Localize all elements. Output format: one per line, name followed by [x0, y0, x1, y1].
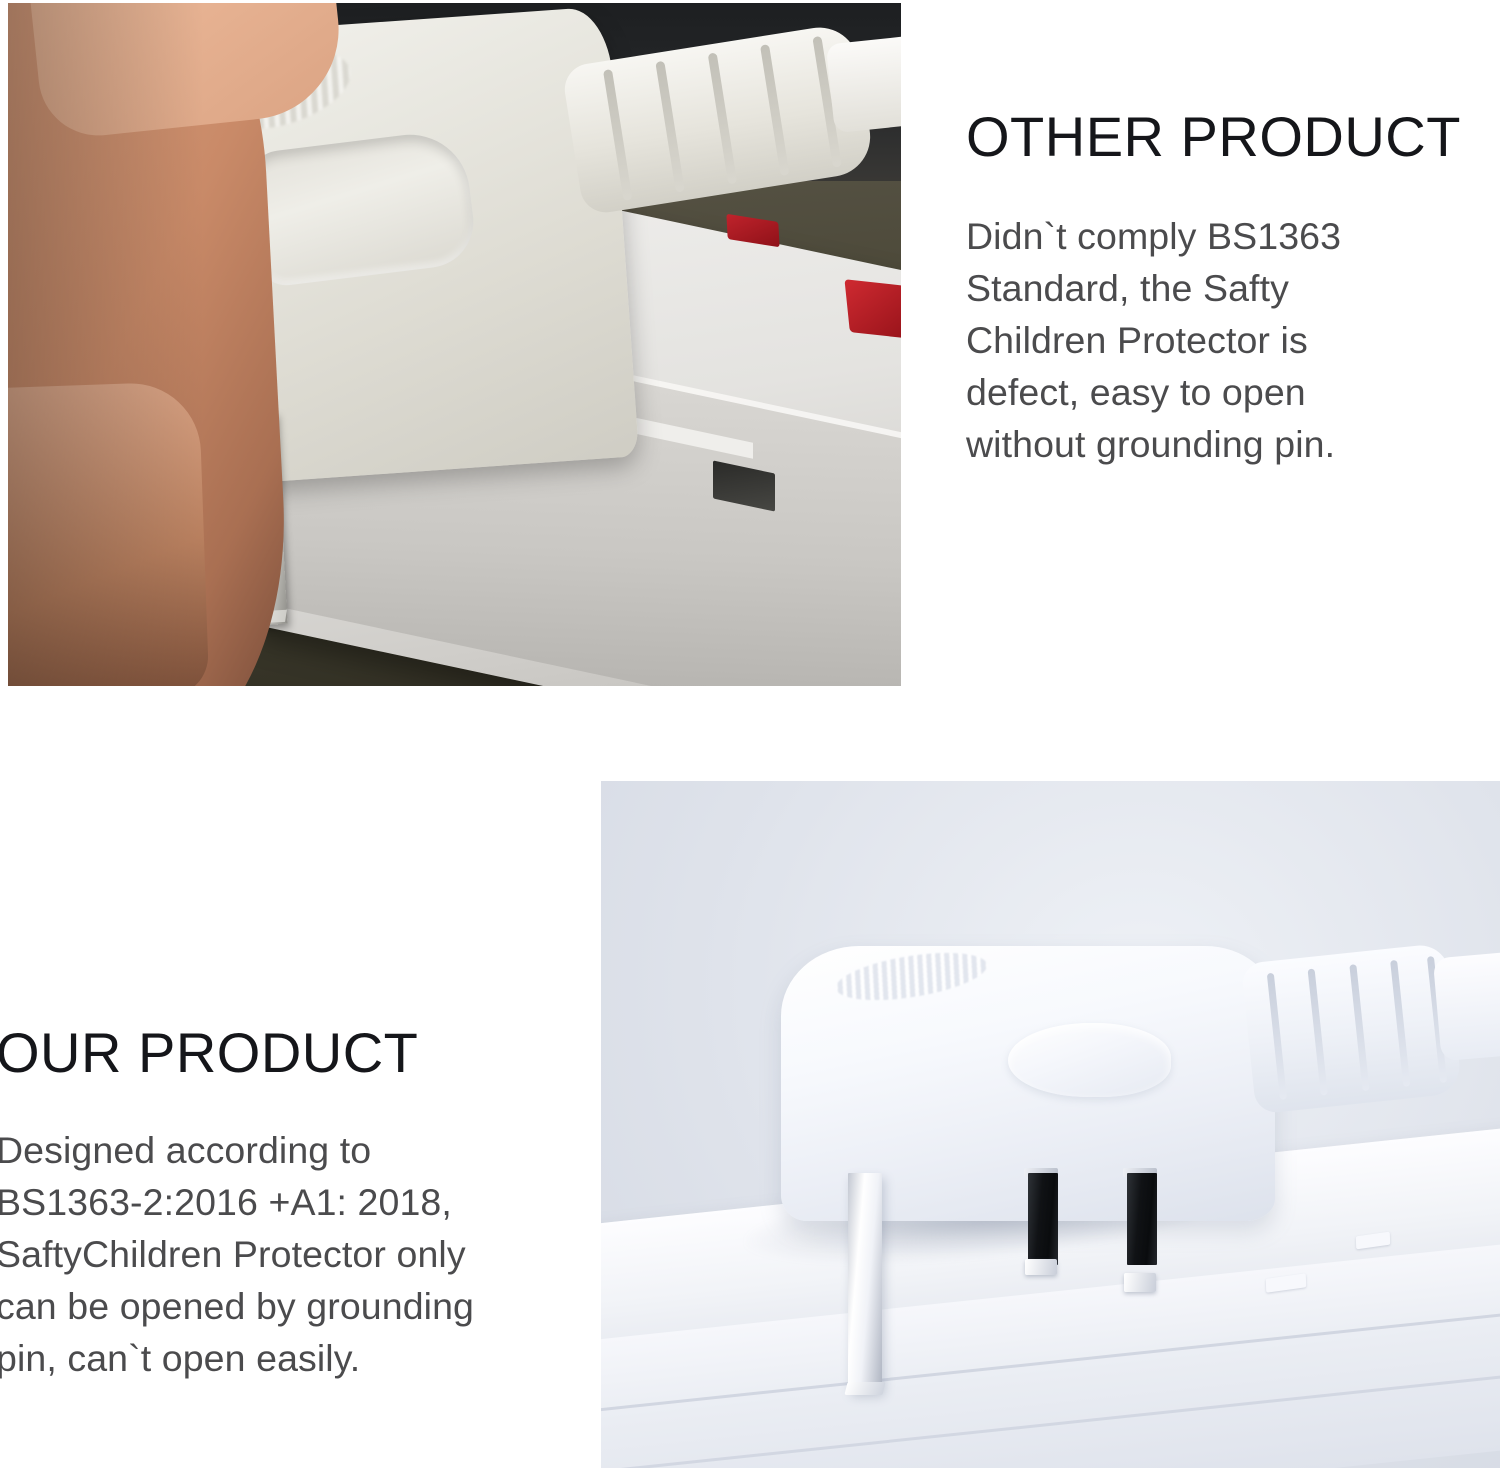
plug-recess — [244, 129, 479, 290]
cable-tail — [825, 30, 901, 133]
cable-rib — [1267, 973, 1287, 1100]
our-product-heading: OUR PRODUCT — [0, 1024, 556, 1082]
cable-rib — [603, 69, 633, 201]
cable-rib — [655, 61, 685, 193]
neutral-pin-insulated — [1127, 1173, 1157, 1266]
other-product-text-block: OTHER PRODUCT Didn`t comply BS1363 Stand… — [966, 108, 1486, 470]
our-product-body-line: Designed according to — [0, 1124, 556, 1176]
our-product-body-line: can be opened by grounding — [0, 1280, 556, 1332]
other-product-body-line: without grounding pin. — [966, 418, 1486, 470]
our-product-text-block: OUR PRODUCT Designed according to BS1363… — [0, 1024, 556, 1384]
cable-rib — [1308, 968, 1328, 1095]
cable-strain-relief — [1241, 942, 1462, 1114]
other-product-body-line: Standard, the Safty — [966, 262, 1486, 314]
plug-dome — [1008, 1023, 1171, 1097]
our-product-body: Designed according to BS1363-2:2016 +A1:… — [0, 1124, 556, 1384]
other-product-body-line: Didn`t comply BS1363 — [966, 210, 1486, 262]
our-product-body-line: SaftyChildren Protector only — [0, 1228, 556, 1280]
grounding-pin-tip-our — [844, 1382, 885, 1395]
live-pin-insulated — [1028, 1173, 1058, 1266]
photo-other-product — [8, 3, 901, 686]
cable-tail — [1433, 947, 1500, 1061]
cable-rib — [1390, 960, 1410, 1087]
other-product-body-line: Children Protector is — [966, 314, 1486, 366]
other-product-body-line: defect, easy to open — [966, 366, 1486, 418]
grounding-pin-our — [848, 1173, 882, 1393]
photo-our-product — [601, 781, 1500, 1468]
other-product-body: Didn`t comply BS1363 Standard, the Safty… — [966, 210, 1486, 470]
power-strip-switch-red-2 — [845, 279, 901, 338]
neutral-pin-tip — [1124, 1273, 1156, 1292]
cable-rib — [708, 52, 738, 184]
our-product-body-line: pin, can`t open easily. — [0, 1332, 556, 1384]
photo-vignette — [8, 3, 204, 686]
our-product-body-line: BS1363-2:2016 +A1: 2018, — [0, 1176, 556, 1228]
infographic-page: OTHER PRODUCT Didn`t comply BS1363 Stand… — [0, 0, 1500, 1468]
cable-rib — [760, 44, 790, 176]
cable-rib — [1349, 964, 1369, 1091]
other-product-heading: OTHER PRODUCT — [966, 108, 1486, 166]
live-pin-tip — [1025, 1259, 1057, 1275]
